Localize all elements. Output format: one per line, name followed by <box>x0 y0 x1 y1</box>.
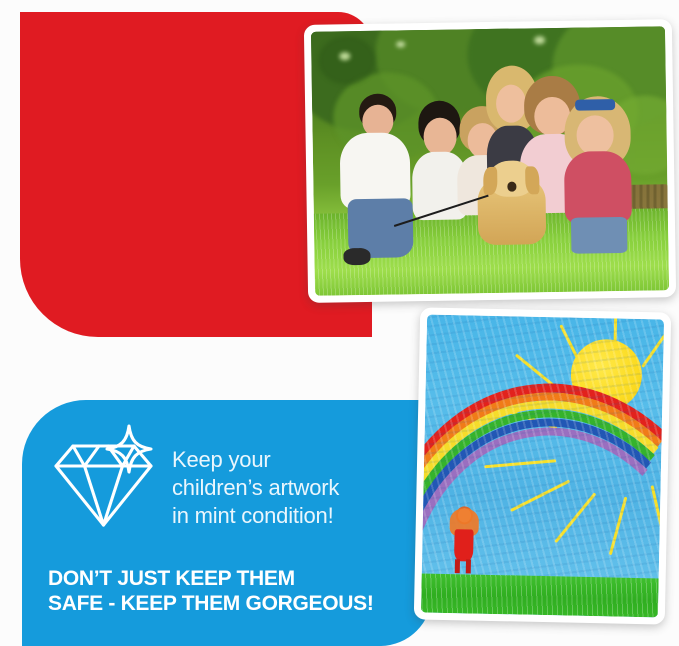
grass-drawing <box>421 574 664 618</box>
blue-copy-line-2: children’s artwork <box>172 474 422 502</box>
childrens-crayon-artwork-photo <box>414 307 671 624</box>
family-photo-inner <box>311 26 669 296</box>
blue-panel-tagline: DON’T JUST KEEP THEM SAFE - KEEP THEM GO… <box>48 566 428 616</box>
artwork-photo-inner <box>421 315 664 618</box>
blue-copy-line-1: Keep your <box>172 446 422 474</box>
blue-copy-line-3: in mint condition! <box>172 502 422 530</box>
person-girl-red <box>560 95 637 260</box>
blue-panel-copy: Keep your children’s artwork in mint con… <box>172 446 422 530</box>
diamond-sparkle-icon <box>46 418 164 536</box>
poster-canvas: KEEP IT PRISTINE Some things are importa… <box>0 0 679 646</box>
tagline-line-1: DON’T JUST KEEP THEM <box>48 566 428 591</box>
tagline-line-2: SAFE - KEEP THEM GORGEOUS! <box>48 591 428 616</box>
girl-figure-drawing <box>445 506 482 575</box>
family-with-dog-photo <box>304 19 676 303</box>
golden-retriever-dog <box>472 160 552 267</box>
family-garden-scene <box>311 26 669 296</box>
crayon-drawing-scene <box>421 315 664 618</box>
